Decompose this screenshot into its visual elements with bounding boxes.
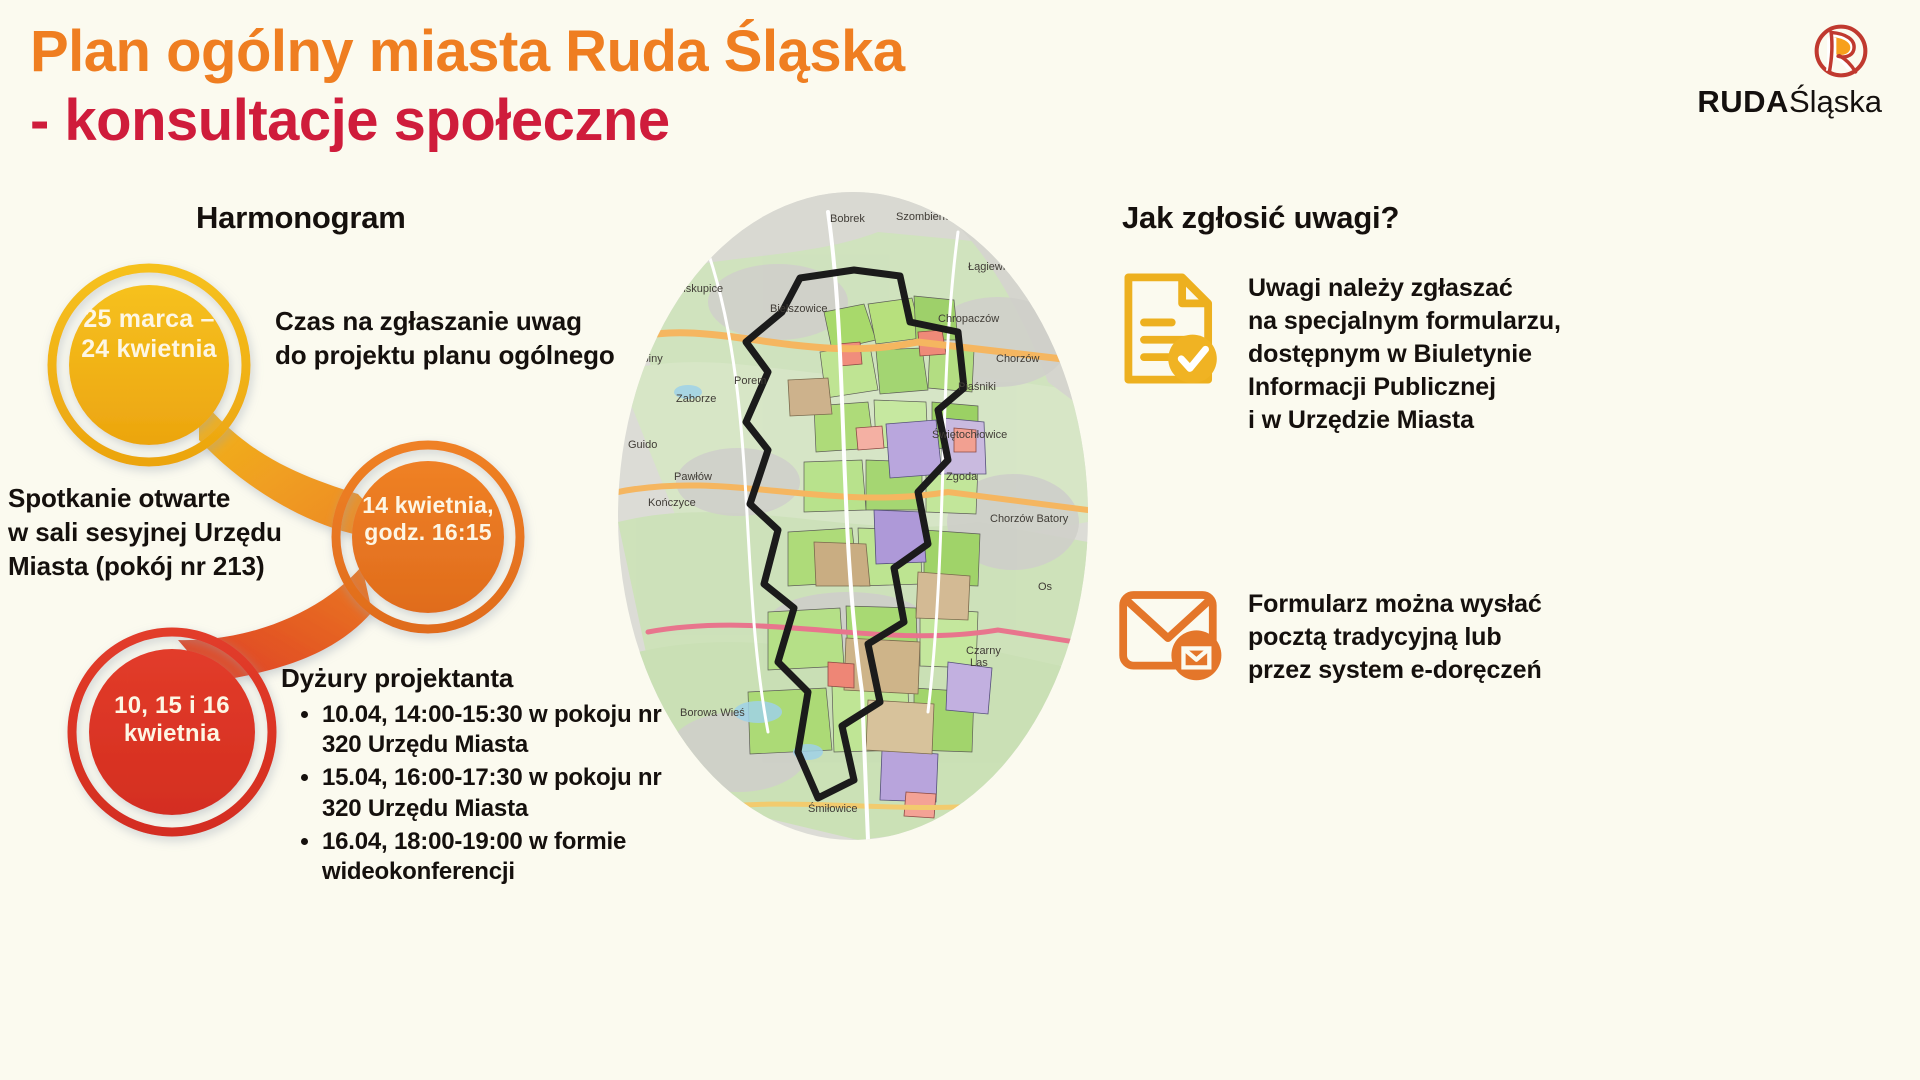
how-to-text-send: Formularz można wysłaćpocztą tradycyjną …: [1248, 588, 1542, 687]
map-label: Biskupice: [676, 283, 723, 295]
list-item: 16.04, 18:00-19:00 w formie wideokonfere…: [322, 827, 662, 887]
zoning-map-graphic: Bobrek Szombierki Łągiewniki Biskupice C…: [618, 192, 1088, 840]
how-to-text-form: Uwagi należy zgłaszaćna specjalnym formu…: [1248, 272, 1561, 437]
page-title: Plan ogólny miasta Ruda Śląska - konsult…: [30, 22, 905, 152]
map-label: Bobrek: [830, 213, 865, 225]
map-label: Kończyce: [648, 497, 696, 509]
map-label: Chropaczów: [938, 313, 999, 325]
map-label: Zgoda: [946, 471, 978, 483]
schedule-item-duty-heading: Dyżury projektanta: [281, 662, 661, 696]
map-label: Szombierki: [896, 211, 950, 223]
infographic-poster: Plan ogólny miasta Ruda Śląska - konsult…: [0, 0, 1920, 1080]
map-label: Łągiewniki: [968, 261, 1019, 273]
zoning-map: Bobrek Szombierki Łągiewniki Biskupice C…: [618, 192, 1088, 840]
list-item: 10.04, 14:00-15:30 w pokoju nr 320 Urzęd…: [322, 700, 662, 760]
schedule-duty-list: 10.04, 14:00-15:30 w pokoju nr 320 Urzęd…: [300, 700, 662, 890]
map-label: Bielszowice: [770, 303, 827, 315]
envelope-send-icon: [1118, 588, 1240, 688]
map-label: Las: [970, 657, 988, 669]
logo-slaska: Śląska: [1789, 84, 1882, 119]
map-label: Guido: [628, 439, 657, 451]
list-item: 15.04, 16:00-17:30 w pokoju nr 320 Urzęd…: [322, 763, 662, 823]
map-label: Chorzów Batory: [990, 513, 1069, 525]
city-logo: RUDAŚląska: [1697, 22, 1882, 120]
map-label: Os: [1038, 581, 1053, 593]
map-label: Śmiłowice: [808, 802, 858, 815]
map-label: Borowa Wieś: [680, 707, 745, 719]
how-to-row-send: Formularz można wysłaćpocztą tradycyjną …: [1118, 588, 1542, 688]
schedule-node-orange: [336, 445, 520, 629]
schedule-node-yellow: [52, 268, 246, 462]
map-label: Zaborze: [676, 393, 716, 405]
document-check-icon: [1118, 272, 1240, 390]
map-label: Porem: [734, 375, 766, 387]
how-to-row-form: Uwagi należy zgłaszaćna specjalnym formu…: [1118, 272, 1561, 437]
title-line-2: - konsultacje społeczne: [30, 91, 905, 152]
how-to-heading: Jak zgłosić uwagi?: [1122, 200, 1399, 236]
map-label: Czarny: [966, 645, 1001, 657]
schedule-item-consultation-period: Czas na zgłaszanie uwagdo projektu planu…: [275, 305, 675, 373]
schedule-node-red: [72, 632, 272, 832]
ruda-slaska-r-emblem-icon: [1812, 22, 1870, 80]
title-line-1: Plan ogólny miasta Ruda Śląska: [30, 22, 905, 83]
map-label: Chorzów: [996, 353, 1039, 365]
map-label: Piaśniki: [958, 381, 996, 393]
schedule-heading: Harmonogram: [196, 200, 406, 236]
logo-wordmark: RUDAŚląska: [1697, 84, 1882, 120]
map-label: Pawłów: [674, 471, 712, 483]
schedule-item-open-meeting: Spotkanie otwartew sali sesyjnej UrzęduM…: [8, 482, 328, 583]
map-label: Świętochłowice: [932, 428, 1007, 441]
logo-ruda: RUDA: [1697, 84, 1789, 119]
